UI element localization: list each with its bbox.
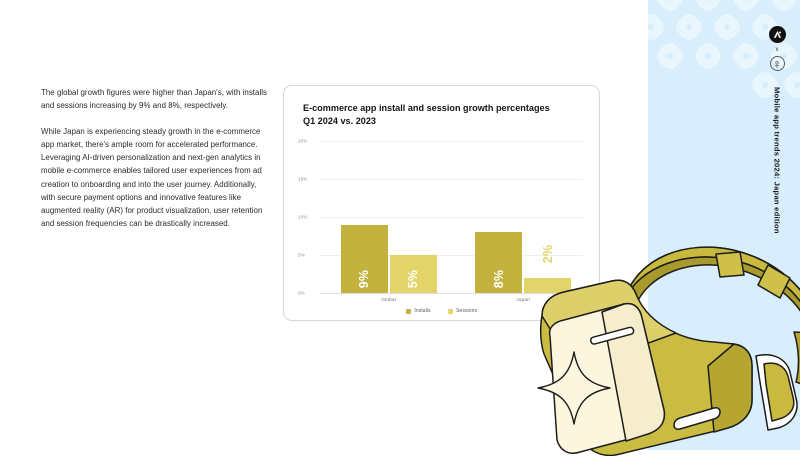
bar-value-label: 2% (541, 245, 555, 263)
x-axis-label-global: Global (381, 298, 396, 303)
legend-swatch (406, 309, 411, 314)
y-axis-tick-label: 5% (298, 253, 317, 258)
chart-title-line-1: E-commerce app install and session growt… (303, 102, 585, 115)
bar-value-label: 8% (492, 270, 506, 288)
y-axis-tick-label: 0% (298, 291, 317, 296)
bar-series-layer: 9%5%8%2% (320, 141, 583, 293)
paragraph-2: While Japan is experiencing steady growt… (41, 125, 269, 230)
deck-title-vertical: Mobile app trends 2024: Japan edition (773, 87, 782, 234)
bar-value-label: 5% (406, 270, 420, 288)
adjust-mark-icon (772, 29, 783, 40)
y-axis-tick-label: 20% (298, 139, 317, 144)
appsflyer-logo-icon (770, 56, 785, 71)
adjust-logo-icon (769, 26, 786, 43)
chart-title-line-2: Q1 2024 vs. 2023 (303, 115, 585, 128)
y-axis-tick-label: 15% (298, 177, 317, 182)
bar-value-label: 9% (357, 270, 371, 288)
bar-global-sessions[interactable]: 5% (390, 255, 437, 293)
paragraph-1: The global growth figures were higher th… (41, 86, 269, 112)
legend-swatch (448, 309, 453, 314)
legend-label: Sessions (456, 308, 477, 314)
bar-japan-sessions[interactable]: 2% (524, 278, 571, 293)
logo-connector-x: x (776, 47, 779, 53)
chart-card: E-commerce app install and session growt… (283, 85, 600, 321)
legend-item-sessions[interactable]: Sessions (448, 308, 477, 314)
page-number: 40 (766, 412, 777, 422)
appsflyer-mark-icon (772, 59, 782, 69)
bar-japan-installs[interactable]: 8% (475, 232, 522, 293)
chart-plot-area: 20%15%10%5%0% 9%5%8%2% GlobalJapan (298, 141, 585, 293)
y-axis-tick-label: 10% (298, 215, 317, 220)
gridline (320, 293, 583, 294)
chart-title: E-commerce app install and session growt… (303, 102, 585, 127)
chart-legend: InstallsSessions (284, 308, 599, 314)
legend-label: Installs (414, 308, 430, 314)
legend-item-installs[interactable]: Installs (406, 308, 431, 314)
x-axis-label-japan: Japan (516, 298, 530, 303)
brand-rail: x Mobile app trends 2024: Japan edition (762, 26, 792, 234)
bar-global-installs[interactable]: 9% (341, 225, 388, 293)
body-copy: The global growth figures were higher th… (41, 86, 269, 230)
sparkle-icon (538, 352, 610, 424)
